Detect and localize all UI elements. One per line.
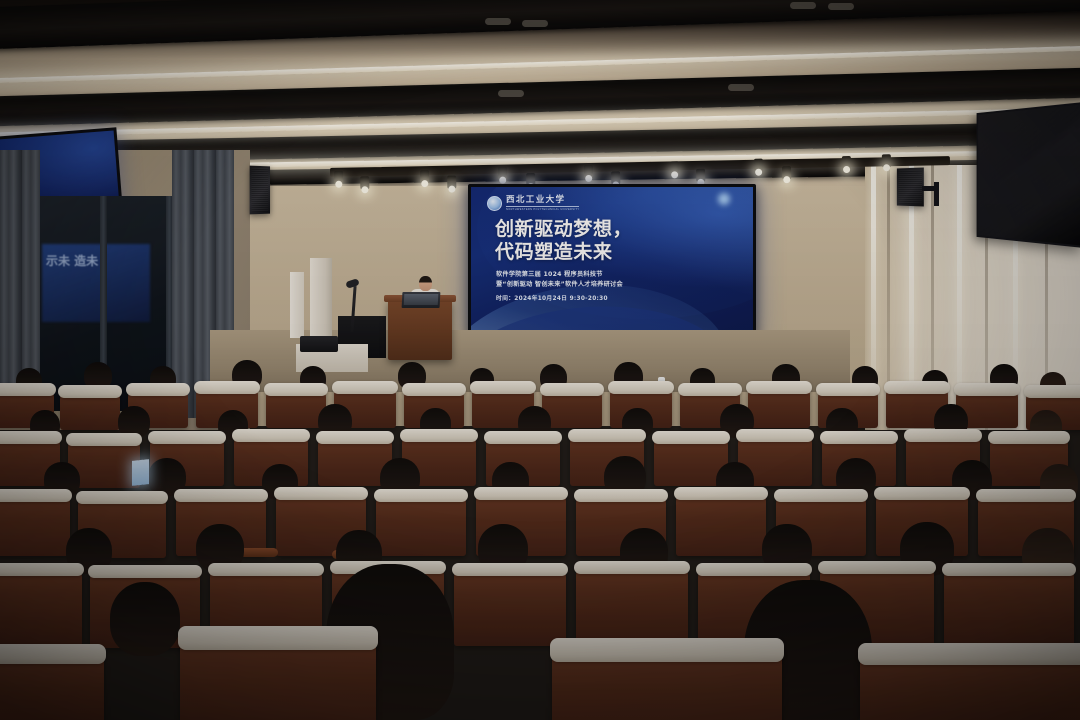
spotlight-icon: [782, 166, 791, 179]
wall-speaker-left: [250, 166, 270, 215]
seat: [542, 388, 602, 428]
seat-foreground: [860, 652, 1080, 720]
seat-foreground: [0, 652, 104, 720]
wall-speaker-right: [897, 168, 924, 207]
wall-mounted-tv[interactable]: [977, 102, 1080, 248]
seat: [266, 388, 326, 428]
screen-title: 创新驱动梦想， 代码塑造未来: [495, 218, 632, 264]
screen-subtitle-line1: 软件学院第三届 1024 程序员科技节: [496, 270, 623, 280]
screen-subtitle-line2: 暨“创新驱动 智创未来”软件人才培养研讨会: [496, 280, 623, 290]
university-name-cn: 西北工业大学: [506, 196, 579, 205]
ceiling-vent: [485, 18, 511, 25]
spotlight-icon: [882, 154, 891, 167]
av-equipment-box: [300, 336, 338, 352]
tv-screen-reflection: [978, 104, 1080, 245]
university-name-en: NORTHWESTERN POLYTECHNICAL UNIVERSITY: [506, 206, 579, 211]
audience-head: [110, 582, 180, 656]
seat-foreground: [180, 636, 376, 720]
university-emblem-icon: [487, 196, 502, 211]
screen-title-line2: 代码塑造未来: [495, 241, 632, 264]
spotlight-icon: [754, 159, 763, 172]
spotlight-icon: [584, 165, 593, 178]
white-equipment-cabinet: [310, 258, 332, 336]
ceiling-vent: [522, 20, 548, 27]
university-logo: 西北工业大学 NORTHWESTERN POLYTECHNICAL UNIVER…: [487, 196, 579, 211]
white-cabinet-secondary: [290, 272, 304, 338]
ceiling-vent: [728, 84, 754, 91]
screen-title-line1: 创新驱动梦想，: [495, 218, 632, 241]
window-reflected-text: 示未 造未: [46, 252, 98, 269]
spotlight-icon: [447, 176, 456, 189]
spotlight-icon: [420, 170, 429, 183]
seat-foreground: [552, 648, 782, 720]
screen-time-line: 时间：2024年10月24日 9:30-20:30: [496, 293, 608, 302]
seat: [454, 568, 566, 646]
presenter-laptop: [402, 292, 441, 308]
ceiling-vent: [828, 3, 854, 10]
podium: [388, 300, 452, 360]
seat: [376, 494, 466, 556]
auditorium-scene: 梦想， 未来 序员科技节 软件人才培养研讨会 20:30 示未 造未: [0, 0, 1080, 720]
audience-laptop-screen: [132, 459, 149, 486]
spotlight-icon: [360, 176, 369, 189]
main-led-screen[interactable]: 西北工业大学 NORTHWESTERN POLYTECHNICAL UNIVER…: [468, 184, 756, 340]
ceiling-vent: [790, 2, 816, 9]
seat: [944, 568, 1074, 646]
spotlight-icon: [611, 171, 620, 184]
seat: [576, 566, 688, 646]
spotlight-icon: [334, 171, 343, 184]
presenter-head: [419, 276, 432, 291]
seat: [60, 390, 120, 430]
spotlight-icon: [498, 167, 507, 180]
spotlight-icon: [842, 156, 851, 169]
seat: [0, 568, 82, 646]
spotlight-icon: [696, 169, 705, 182]
screen-subtitle: 软件学院第三届 1024 程序员科技节 暨“创新驱动 智创未来”软件人才培养研讨…: [496, 270, 623, 289]
seat: [748, 386, 810, 428]
seat: [0, 494, 70, 556]
speaker-mount-pole: [934, 182, 939, 206]
seat: [676, 492, 766, 556]
audience-seating: RE: [0, 352, 1080, 720]
ceiling-vent: [498, 90, 524, 97]
spotlight-icon: [670, 161, 679, 174]
